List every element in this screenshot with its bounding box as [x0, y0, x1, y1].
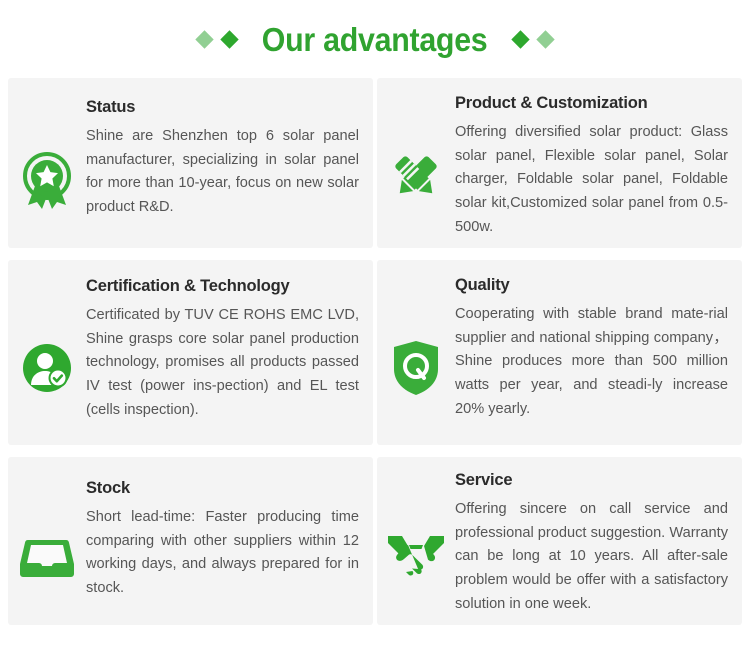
advantage-card-stock: Stock Short lead-time: Faster producing …: [8, 457, 373, 625]
diamond-dark-left-inner-icon: [221, 30, 239, 48]
inbox-tray-icon: [8, 457, 86, 625]
verified-user-icon: [8, 260, 86, 445]
card-text: Offering sincere on call service and pro…: [455, 498, 728, 617]
advantages-page: Our advantages Status Shine are Shenzhen…: [0, 0, 750, 648]
card-body: Quality Cooperating with stable brand ma…: [455, 260, 742, 445]
advantage-card-status: Status Shine are Shenzhen top 6 solar pa…: [8, 78, 373, 248]
page-title: Our advantages: [262, 23, 488, 56]
page-title-row: Our advantages: [0, 0, 750, 78]
diamond-light-left-outer-icon: [196, 30, 214, 48]
card-title: Service: [455, 471, 728, 491]
card-title: Quality: [455, 276, 728, 296]
card-text: Cooperating with stable brand mate-rial …: [455, 303, 728, 422]
card-text: Certificated by TUV CE ROHS EMC LVD, Shi…: [86, 304, 359, 423]
card-text: Short lead-time: Faster producing time c…: [86, 506, 359, 601]
card-body: Stock Short lead-time: Faster producing …: [86, 457, 373, 625]
advantage-card-quality: Quality Cooperating with stable brand ma…: [377, 260, 742, 445]
advantage-card-service: Service Offering sincere on call service…: [377, 457, 742, 625]
advantage-card-product-customization: Product & Customization Offering diversi…: [377, 78, 742, 248]
card-body: Product & Customization Offering diversi…: [455, 78, 742, 248]
card-title: Stock: [86, 479, 359, 499]
card-title: Status: [86, 98, 359, 118]
card-title: Product & Customization: [455, 94, 728, 114]
card-text: Shine are Shenzhen top 6 solar panel man…: [86, 125, 359, 220]
shield-q-icon: [377, 260, 455, 445]
medal-star-icon: [8, 78, 86, 248]
card-title: Certification & Technology: [86, 277, 359, 297]
crossed-pencils-icon: [377, 78, 455, 248]
advantages-grid: Status Shine are Shenzhen top 6 solar pa…: [8, 78, 742, 625]
diamond-light-right-outer-icon: [536, 30, 554, 48]
advantage-card-certification-technology: Certification & Technology Certificated …: [8, 260, 373, 445]
card-text: Offering diversified solar product: Glas…: [455, 121, 728, 240]
diamond-dark-right-inner-icon: [511, 30, 529, 48]
handshake-icon: [377, 457, 455, 625]
card-body: Certification & Technology Certificated …: [86, 260, 373, 445]
card-body: Status Shine are Shenzhen top 6 solar pa…: [86, 78, 373, 248]
card-body: Service Offering sincere on call service…: [455, 457, 742, 625]
